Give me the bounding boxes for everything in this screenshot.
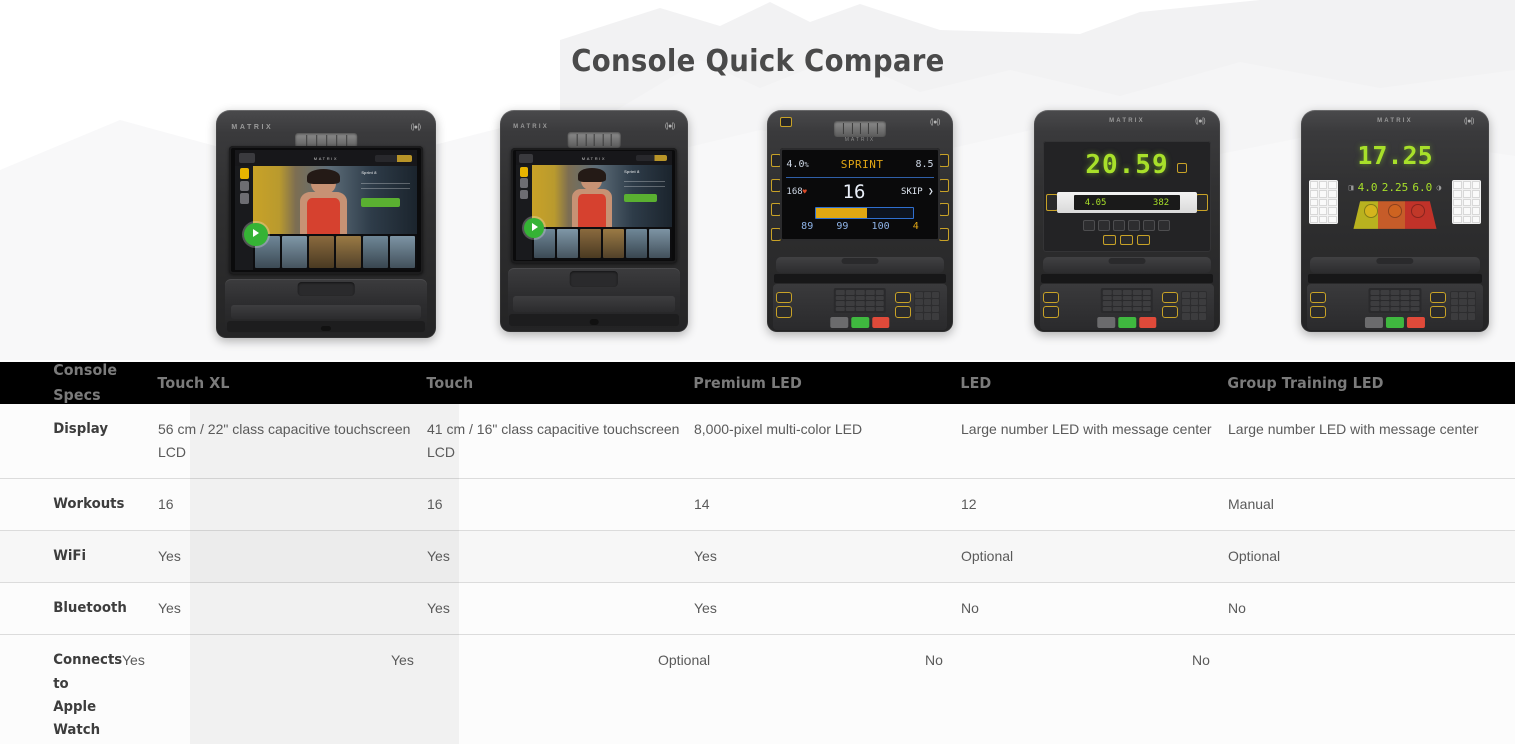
vent-grille-icon: [568, 132, 621, 148]
alert-icon[interactable]: [780, 117, 792, 127]
status-chip: [375, 155, 411, 162]
workout-thumbnail-strip[interactable]: [532, 227, 672, 260]
console-compare-page: Console Quick Compare MATRIX (|●|) MATRI…: [0, 0, 1515, 744]
signal-icon: ◨: [1349, 183, 1354, 192]
table-row: Workouts 16 16 14 12 Manual: [0, 479, 1515, 531]
play-icon[interactable]: [244, 223, 268, 247]
select-button-row[interactable]: [1097, 234, 1157, 246]
workout-thumbnail-strip[interactable]: [253, 234, 417, 270]
table-row: WiFi Yes Yes Yes Optional Optional: [0, 531, 1515, 583]
speed-adjust-buttons[interactable]: [1162, 292, 1178, 318]
console-lower-deck: [773, 257, 948, 330]
message-left-value: 4.05: [1085, 198, 1107, 208]
lock-icon: [1177, 163, 1187, 173]
app-logo: MATRIX: [314, 156, 338, 161]
cell-workouts-premium-led: 14: [682, 479, 949, 530]
right-arrow-button[interactable]: [1196, 194, 1208, 211]
console-image-touch-xl: MATRIX (|●|) MATRIX: [216, 110, 436, 338]
matrix-logo: MATRIX: [1377, 118, 1413, 124]
cell-display-touch-xl: 56 cm / 22" class capacitive touchscreen…: [146, 404, 415, 478]
left-arrow-button[interactable]: [1046, 194, 1058, 211]
nav-run-icon: [520, 178, 528, 187]
cell-bluetooth-led: No: [949, 583, 1216, 634]
console-brandbar: MATRIX (|●|): [1034, 110, 1220, 132]
console-brandbar: MATRIX (|●|): [1301, 110, 1489, 132]
mode-button-row[interactable]: [1073, 219, 1180, 232]
app-top-bar: MATRIX: [235, 150, 417, 166]
screen-row-mid: 168♥ 16 SKIP ❯: [786, 179, 933, 205]
skip-button[interactable]: SKIP ❯: [901, 187, 934, 197]
cell-wifi-group-training-led: Optional: [1216, 531, 1515, 582]
page-title-wrapper: Console Quick Compare: [0, 44, 1515, 79]
runner-figure: [568, 168, 616, 227]
action-buttons[interactable]: [1365, 317, 1425, 329]
matrix-logo: MATRIX: [231, 124, 273, 131]
speed-value: 8.5: [916, 159, 934, 170]
incline-value: 4.0%: [786, 159, 808, 170]
row-label-apple-watch: Connects to Apple Watch: [0, 635, 105, 744]
column-header-touch-xl: Touch XL: [146, 357, 402, 410]
function-keypad[interactable]: [1101, 288, 1153, 313]
app-top-bar: MATRIX: [516, 151, 672, 165]
metric-2: 2.25: [1382, 181, 1409, 194]
row-label-bluetooth: Bluetooth: [0, 583, 139, 634]
right-number-keypad[interactable]: [1452, 180, 1481, 224]
cell-bluetooth-premium-led: Yes: [682, 583, 949, 634]
console-image-group-training-led: MATRIX (|●|) 17.25 ◨ 4.0: [1301, 110, 1489, 332]
column-header-touch: Touch: [415, 357, 669, 410]
console-shelf: [225, 279, 427, 334]
zone-marker-3: [1412, 205, 1424, 217]
bluetooth-icon: (|●|): [1195, 118, 1205, 125]
console-image-premium-led: (|●|) MATRIX 4.0% SPRINT: [767, 110, 953, 332]
function-keypad[interactable]: [1368, 288, 1421, 313]
touchscreen-display[interactable]: MATRIX: [229, 146, 423, 274]
cell-display-led: Large number LED with message center: [949, 404, 1216, 478]
cell-apple-watch-led: No: [913, 635, 1180, 744]
workout-panel: Sprint 8: [624, 169, 669, 204]
cell-apple-watch-group-training-led: No: [1180, 635, 1515, 744]
cell-wifi-touch: Yes: [415, 531, 682, 582]
cell-workouts-group-training-led: Manual: [1216, 479, 1515, 530]
stat-1: 89: [801, 221, 813, 232]
premium-led-screen: 4.0% SPRINT 8.5 168♥ 16 SKIP ❯ 89 99 1: [780, 148, 940, 241]
column-header-premium-led: Premium LED: [682, 357, 936, 410]
screen-row-top: 4.0% SPRINT 8.5: [786, 153, 933, 175]
cell-apple-watch-touch-xl: Yes: [110, 635, 379, 744]
speed-adjust-buttons[interactable]: [895, 292, 911, 318]
table-header-row: Console Specs Touch XL Touch Premium LED…: [0, 362, 1515, 404]
incline-adjust-buttons[interactable]: [776, 292, 792, 318]
hero-video: Sprint 8: [532, 165, 672, 227]
side-button-r2[interactable]: [939, 179, 949, 192]
stat-3: 100: [872, 221, 890, 232]
workout-title: Sprint 8: [624, 169, 639, 174]
app-logo: MATRIX: [582, 156, 606, 161]
left-number-keypad[interactable]: [1309, 180, 1338, 224]
cell-apple-watch-touch: Yes: [379, 635, 646, 744]
group-training-display-face: 17.25 ◨ 4.0 2.25 6.0 ◑: [1309, 139, 1482, 254]
table-row: Display 56 cm / 22" class capacitive tou…: [0, 404, 1515, 479]
function-keypad[interactable]: [834, 288, 886, 313]
cell-bluetooth-group-training-led: No: [1216, 583, 1515, 634]
nav-programs-icon: [520, 190, 528, 199]
main-led-display: 17.25: [1309, 141, 1482, 170]
console-shelf: [508, 268, 681, 328]
nav-run-icon: [240, 181, 249, 191]
side-button-r3[interactable]: [939, 203, 949, 216]
touchscreen-display[interactable]: MATRIX: [511, 148, 676, 263]
number-keypad[interactable]: [1181, 291, 1207, 321]
row-label-workouts: Workouts: [0, 479, 139, 530]
console-image-row: MATRIX (|●|) MATRIX: [0, 110, 1515, 350]
console-image-touch: MATRIX (|●|) MATRIX: [500, 110, 688, 332]
cell-bluetooth-touch-xl: Yes: [146, 583, 415, 634]
zone-marker-2: [1389, 205, 1401, 217]
cell-workouts-led: 12: [949, 479, 1216, 530]
nav-favorites-icon: [240, 168, 249, 178]
workout-panel: Sprint 8: [361, 170, 413, 208]
matrix-logo: MATRIX: [513, 124, 549, 130]
runner-figure: [296, 169, 352, 235]
column-header-led: LED: [949, 357, 1203, 410]
hero-video: Sprint 8: [253, 166, 417, 234]
bluetooth-icon: (|●|): [411, 124, 421, 131]
cell-workouts-touch: 16: [415, 479, 682, 530]
cell-bluetooth-touch: Yes: [415, 583, 682, 634]
message-center: 4.05 382: [1057, 192, 1198, 213]
action-buttons[interactable]: [1097, 317, 1156, 329]
row-label-display: Display: [0, 404, 139, 478]
cell-wifi-led: Optional: [949, 531, 1216, 582]
cell-apple-watch-premium-led: Optional: [646, 635, 913, 744]
program-name: SPRINT: [841, 158, 884, 171]
app-side-nav[interactable]: [235, 166, 253, 270]
cell-workouts-touch-xl: 16: [146, 479, 415, 530]
console-lower-deck: [1307, 257, 1484, 330]
screen-row-stats: 89 99 100 4: [790, 216, 931, 238]
side-button-r1[interactable]: [939, 154, 949, 167]
stat-2: 99: [836, 221, 848, 232]
metric-1: 4.0: [1358, 181, 1378, 194]
stat-4: 4: [913, 221, 919, 232]
incline-adjust-buttons[interactable]: [1043, 292, 1059, 318]
table-row: Connects to Apple Watch Yes Yes Optional…: [0, 635, 1515, 744]
bluetooth-icon: (|●|): [930, 119, 940, 126]
row-label-wifi: WiFi: [0, 531, 139, 582]
metric-3: 6.0: [1412, 181, 1432, 194]
gauge-icon: ◑: [1436, 183, 1441, 192]
home-icon[interactable]: [519, 154, 533, 163]
bluetooth-icon: (|●|): [665, 123, 675, 130]
app-side-nav[interactable]: [516, 165, 532, 259]
start-workout-button[interactable]: [624, 194, 657, 202]
vent-grille-icon: [834, 121, 886, 137]
nav-favorites-icon: [520, 167, 528, 176]
home-icon[interactable]: [239, 153, 255, 163]
heart-rate-value: 168♥: [786, 187, 806, 197]
cell-wifi-touch-xl: Yes: [146, 531, 415, 582]
interval-value: 16: [843, 181, 866, 203]
cell-display-premium-led: 8,000-pixel multi-color LED: [682, 404, 949, 478]
console-image-led: MATRIX (|●|) 20.59 4.05 382: [1034, 110, 1220, 332]
play-icon[interactable]: [524, 218, 544, 238]
incline-adjust-buttons[interactable]: [1310, 292, 1326, 318]
led-display-face: 20.59 4.05 382: [1043, 141, 1210, 252]
zone-marker-1: [1365, 205, 1377, 217]
status-chip: [636, 155, 667, 161]
table-row: Bluetooth Yes Yes Yes No No: [0, 583, 1515, 635]
cell-wifi-premium-led: Yes: [682, 531, 949, 582]
action-buttons[interactable]: [830, 317, 889, 329]
bluetooth-icon: (|●|): [1464, 118, 1474, 125]
matrix-logo: MATRIX: [767, 137, 953, 143]
heart-zone-icon: [1353, 201, 1436, 229]
side-button-r4[interactable]: [939, 228, 949, 241]
start-workout-button[interactable]: [361, 198, 400, 207]
message-right-value: 382: [1153, 198, 1169, 208]
number-keypad[interactable]: [1450, 291, 1477, 321]
matrix-logo: MATRIX: [1109, 118, 1145, 124]
metric-values-row: ◨ 4.0 2.25 6.0 ◑: [1347, 180, 1444, 195]
cell-display-touch: 41 cm / 16" class capacitive touchscreen…: [415, 404, 682, 478]
workout-title: Sprint 8: [361, 170, 376, 175]
cell-display-group-training-led: Large number LED with message center: [1216, 404, 1515, 478]
speed-adjust-buttons[interactable]: [1430, 292, 1446, 318]
nav-programs-icon: [240, 193, 249, 203]
console-lower-deck: [1040, 257, 1215, 330]
number-keypad[interactable]: [914, 291, 940, 321]
page-title: Console Quick Compare: [571, 44, 944, 79]
console-comparison-table: Console Specs Touch XL Touch Premium LED…: [0, 362, 1515, 744]
column-header-group-training-led: Group Training LED: [1216, 357, 1500, 410]
